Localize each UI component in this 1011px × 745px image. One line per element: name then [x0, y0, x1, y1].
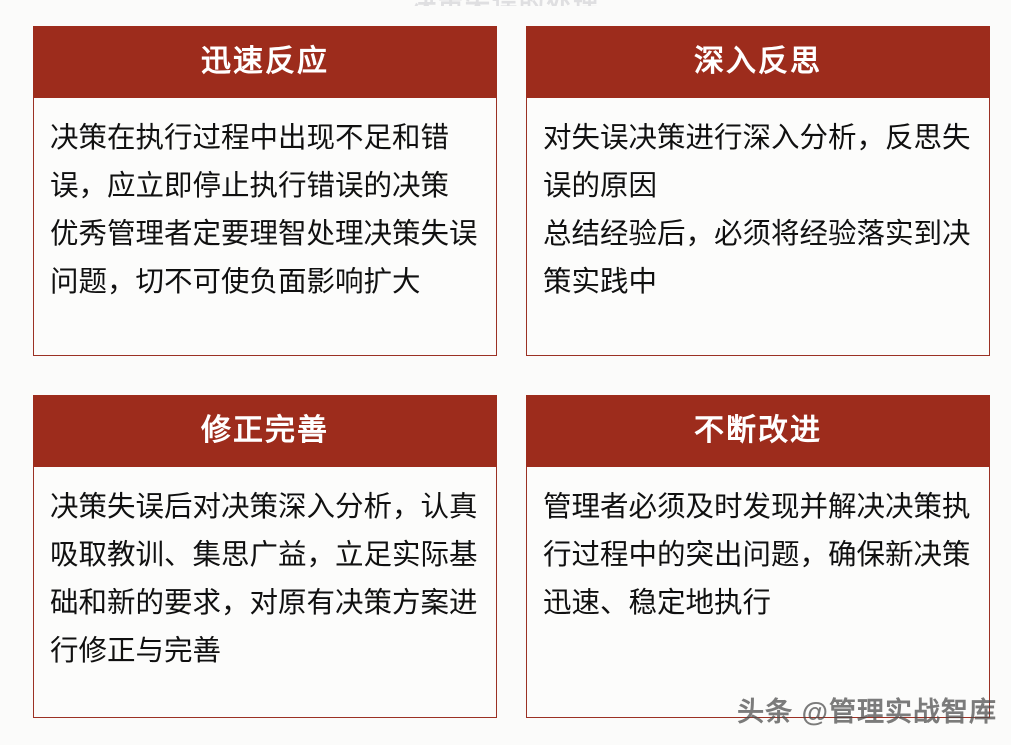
card-paragraph: 优秀管理者定要理智处理决策失误问题，切不可使负面影响扩大 [50, 210, 480, 306]
card-title: 修正完善 [201, 416, 329, 446]
watermark-text: 头条 @管理实战智库 [737, 690, 997, 729]
card-paragraph: 决策失误后对决策深入分析，认真吸取教训、集思广益，立足实际基础和新的要求，对原有… [50, 483, 480, 675]
card-paragraph: 管理者必须及时发现并解决决策执行过程中的突出问题，确保新决策迅速、稳定地执行 [543, 483, 973, 627]
card-header: 不断改进 [526, 395, 990, 467]
slide-canvas: 决策失误的处理 迅速反应 决策在执行过程中出现不足和错误，应立即停止执行错误的决… [0, 0, 1011, 745]
card-grid: 迅速反应 决策在执行过程中出现不足和错误，应立即停止执行错误的决策 优秀管理者定… [33, 26, 990, 718]
card-header: 深入反思 [526, 26, 990, 98]
card-header: 修正完善 [33, 395, 497, 467]
card-paragraph: 总结经验后，必须将经验落实到决策实践中 [543, 210, 973, 306]
card-body: 决策失误后对决策深入分析，认真吸取教训、集思广益，立足实际基础和新的要求，对原有… [33, 467, 497, 718]
card-body: 对失误决策进行深入分析，反思失误的原因 总结经验后，必须将经验落实到决策实践中 [526, 98, 990, 356]
card-paragraph: 决策在执行过程中出现不足和错误，应立即停止执行错误的决策 [50, 114, 480, 210]
card-title: 不断改进 [694, 416, 822, 446]
cut-off-slide-title: 决策失误的处理 [0, 0, 1011, 6]
card-xiuzheng-wanshan[interactable]: 修正完善 决策失误后对决策深入分析，认真吸取教训、集思广益，立足实际基础和新的要… [33, 395, 497, 718]
card-body: 决策在执行过程中出现不足和错误，应立即停止执行错误的决策 优秀管理者定要理智处理… [33, 98, 497, 356]
card-title: 迅速反应 [201, 47, 329, 77]
card-title: 深入反思 [694, 47, 822, 77]
card-header: 迅速反应 [33, 26, 497, 98]
card-xunsu-fanying[interactable]: 迅速反应 决策在执行过程中出现不足和错误，应立即停止执行错误的决策 优秀管理者定… [33, 26, 497, 356]
card-body: 管理者必须及时发现并解决决策执行过程中的突出问题，确保新决策迅速、稳定地执行 [526, 467, 990, 718]
card-buduan-gaijin[interactable]: 不断改进 管理者必须及时发现并解决决策执行过程中的突出问题，确保新决策迅速、稳定… [526, 395, 990, 718]
card-shenru-fansi[interactable]: 深入反思 对失误决策进行深入分析，反思失误的原因 总结经验后，必须将经验落实到决… [526, 26, 990, 356]
card-paragraph: 对失误决策进行深入分析，反思失误的原因 [543, 114, 973, 210]
